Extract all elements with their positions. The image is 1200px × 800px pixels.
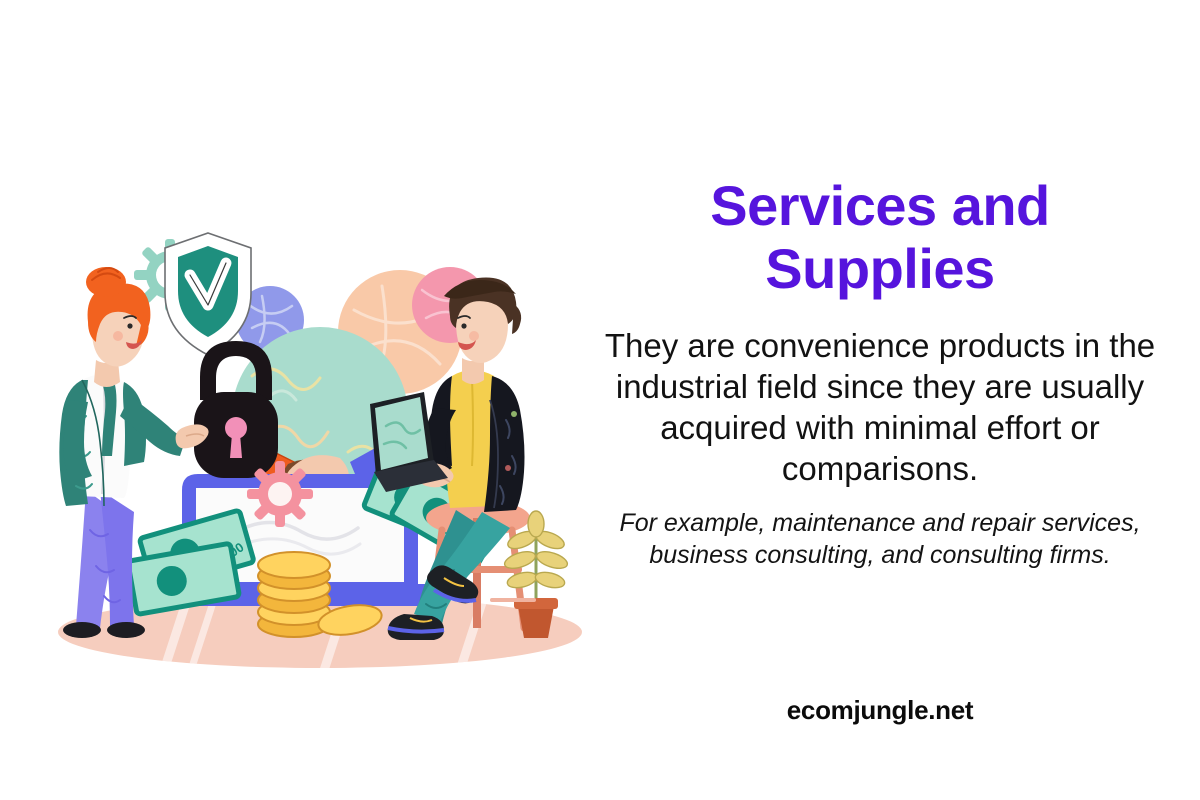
gear-icon-pink	[247, 461, 313, 527]
text-panel: Services and Supplies They are convenien…	[570, 175, 1190, 735]
body-paragraph: They are convenience products in the ind…	[580, 326, 1180, 490]
page-title: Services and Supplies	[620, 175, 1140, 300]
site-watermark: ecomjungle.net	[570, 695, 1190, 726]
poster-canvas: 100 100 100	[0, 0, 1200, 800]
banknote: 100	[128, 510, 254, 614]
padlock-icon	[194, 341, 278, 478]
shield-check-icon	[165, 233, 251, 355]
sneaker	[388, 614, 444, 640]
example-paragraph: For example, maintenance and repair serv…	[610, 508, 1150, 571]
illustration-graphic: 100 100 100	[30, 200, 600, 680]
